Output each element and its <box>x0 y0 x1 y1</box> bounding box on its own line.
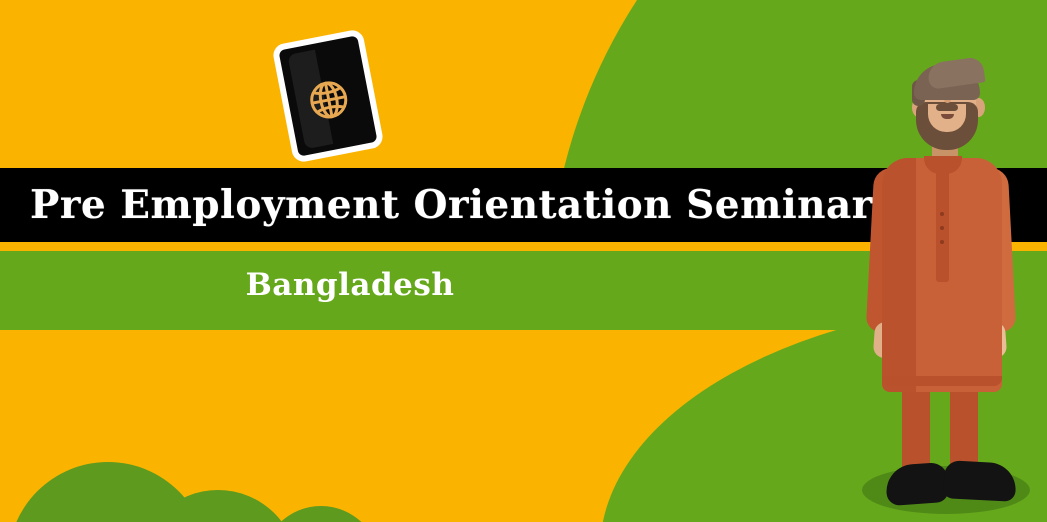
shoe-right <box>943 460 1017 502</box>
kurta-button <box>940 226 944 230</box>
shoe-left <box>885 462 950 506</box>
page-title: Pre Employment Orientation Seminar <box>30 168 873 242</box>
character-illustration <box>856 46 1046 522</box>
seminar-banner: Pre Employment Orientation Seminar Bangl… <box>0 0 1047 522</box>
kurta-button <box>940 240 944 244</box>
mustache <box>936 104 958 111</box>
kurta-hem <box>882 376 1002 386</box>
kurta-shading <box>882 158 916 392</box>
subtitle-country: Bangladesh <box>0 258 700 312</box>
globe-icon <box>303 74 355 126</box>
kurta-button <box>940 212 944 216</box>
